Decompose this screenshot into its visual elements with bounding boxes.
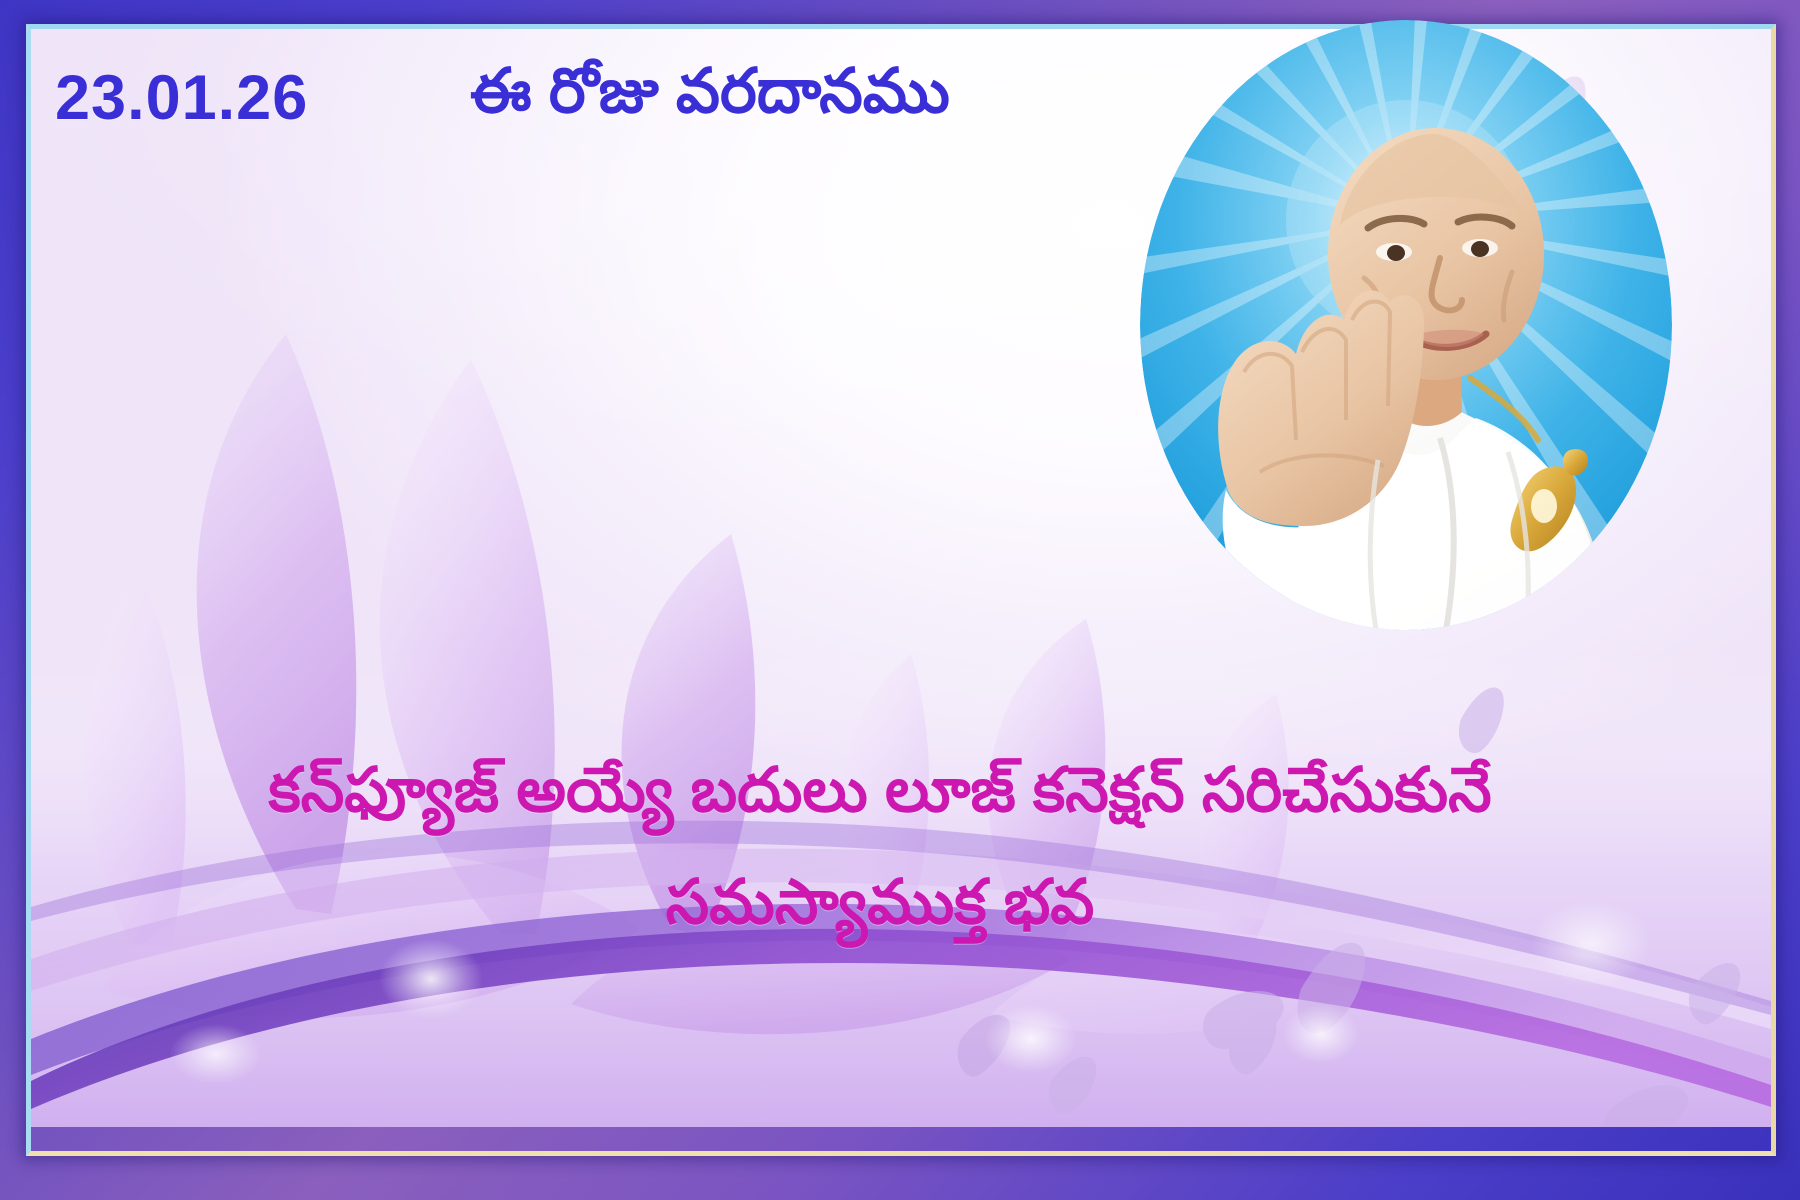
message-line-1: కన్‌ఫ్యూజ్ అయ్యే బదులు లూజ్ కనెక్షన్ సరి… [40,735,1720,847]
glow-spot [1283,1004,1359,1064]
date-label: 23.01.26 [55,62,308,134]
message-block: కన్‌ఫ్యూజ్ అయ్యే బదులు లూజ్ కనెక్షన్ సరి… [40,735,1720,959]
message-line-2: సమస్యాముక్త భవ [40,847,1720,959]
greeting-card: 23.01.26 ఈ రోజు వరదానము కన్‌ఫ్యూజ్ అయ్యే… [0,0,1800,1200]
portrait-illustration [1140,20,1672,630]
page-title: ఈ రోజు వరదానము [470,56,950,142]
glow-spot [985,1005,1077,1073]
dadi-portrait-photo [1140,20,1672,630]
glow-spot [170,1024,262,1084]
